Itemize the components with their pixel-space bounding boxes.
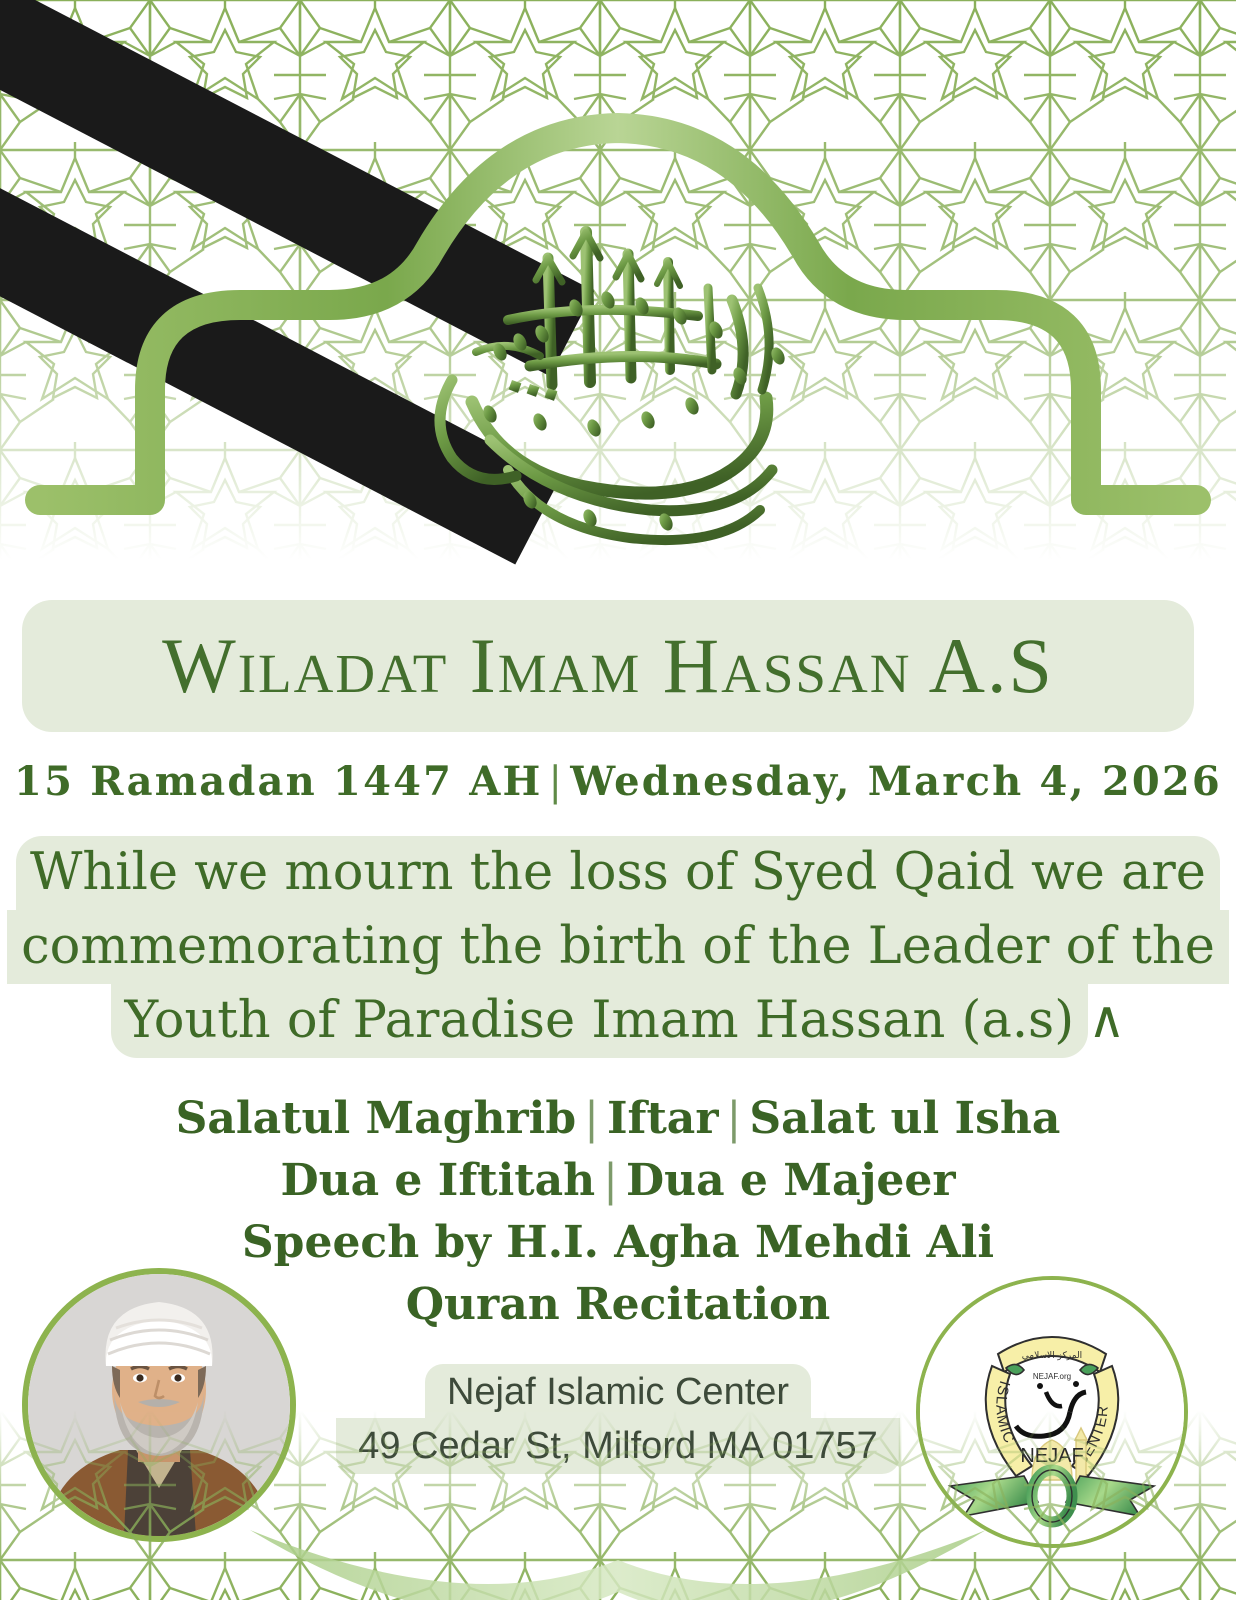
message-line-2: commemorating the birth of the Leader of… [7, 910, 1229, 984]
venue-name: Nejaf Islamic Center [425, 1364, 811, 1420]
program-part: Iftar [607, 1093, 719, 1144]
logo-website: NEJAF.org [1033, 1372, 1071, 1381]
program-item: Speech by H.I. Agha Mehdi Ali [0, 1212, 1236, 1274]
date-gregorian: Wednesday, March 4, 2026 [570, 758, 1222, 805]
event-title-pill: Wiladat Imam Hassan A.S [22, 600, 1194, 732]
message-row: While we mourn the loss of Syed Qaid we … [6, 836, 1230, 910]
program-part: Salatul Maghrib [176, 1093, 577, 1144]
program-item: Dua e Iftitah|Dua e Majeer [0, 1150, 1236, 1212]
program-separator: | [576, 1093, 607, 1144]
logo-banner-arabic: المركز الاسلامي [1022, 1351, 1082, 1361]
program-separator: | [595, 1155, 626, 1206]
date-hijri: 15 Ramadan 1447 AH [14, 758, 543, 805]
message-line-1: While we mourn the loss of Syed Qaid we … [16, 836, 1220, 910]
program-separator: | [719, 1093, 750, 1144]
logo-name-text: NEJAF [1020, 1445, 1083, 1467]
page-title: Wiladat Imam Hassan A.S [162, 627, 1054, 705]
date-separator: | [543, 759, 571, 805]
venue-address: 49 Cedar St, Milford MA 01757 [336, 1418, 900, 1474]
organization-logo: المركز الاسلامي NEJAF.org ISLAMIC CENTER [916, 1276, 1188, 1548]
program-item: Salatul Maghrib|Iftar|Salat ul Isha [0, 1088, 1236, 1150]
message-row: commemorating the birth of the Leader of… [6, 910, 1230, 984]
program-part: Dua e Iftitah [280, 1155, 595, 1206]
message-row: Youth of Paradise Imam Hassan (a.s)∧ [6, 984, 1230, 1058]
bismillah-calligraphy [380, 170, 840, 560]
message-line-3: Youth of Paradise Imam Hassan (a.s) [111, 984, 1089, 1058]
program-part: Salat ul Isha [749, 1093, 1060, 1144]
event-date-line: 15 Ramadan 1447 AH|Wednesday, March 4, 2… [0, 758, 1236, 805]
program-part: Quran Recitation [406, 1279, 831, 1330]
announcement-message: While we mourn the loss of Syed Qaid we … [6, 836, 1230, 1058]
program-part: Dua e Majeer [626, 1155, 956, 1206]
program-part: Speech by H.I. Agha Mehdi Ali [242, 1217, 994, 1268]
message-trailing-glyph: ∧ [1088, 991, 1125, 1050]
avatar [22, 1268, 296, 1542]
